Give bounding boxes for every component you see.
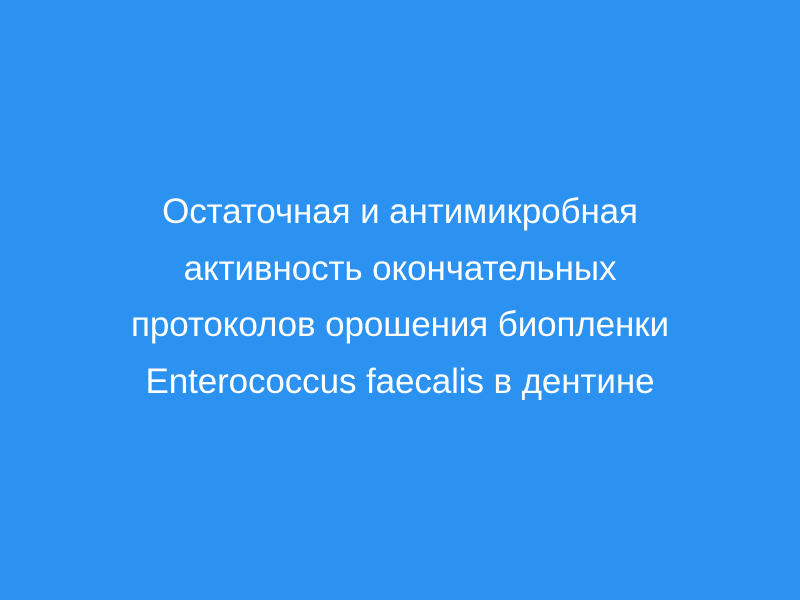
title-line-4: Enterococcus faecalis в дентине (70, 354, 730, 411)
page-title: Остаточная и антимикробная активность ок… (70, 184, 730, 410)
title-line-1: Остаточная и антимикробная (70, 184, 730, 241)
title-card: Остаточная и антимикробная активность ок… (0, 0, 800, 600)
title-line-3: протоколов орошения биопленки (70, 297, 730, 354)
title-line-2: активность окончательных (70, 241, 730, 298)
